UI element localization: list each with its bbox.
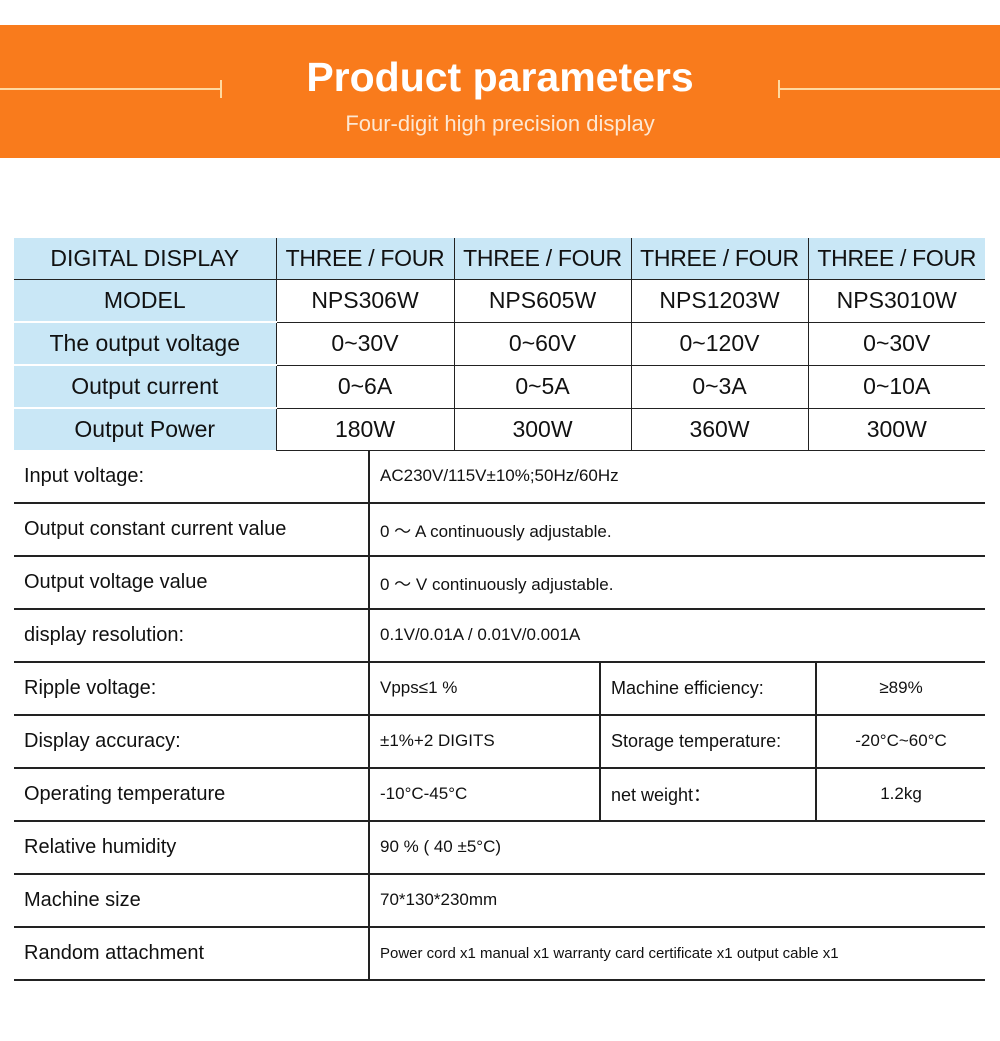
spec-value-output-voltage-value: 0 ～ V continuously adjustable. bbox=[369, 556, 985, 609]
cell-output-power-2: 300W bbox=[454, 408, 631, 450]
cell-model-4: NPS3010W bbox=[808, 280, 985, 323]
spec-key-machine-efficiency: Machine efficiency: bbox=[600, 662, 816, 715]
spec-key-display-resolution: display resolution: bbox=[14, 609, 369, 662]
row-label-digital-display: DIGITAL DISPLAY bbox=[14, 238, 276, 280]
table-row: Output current 0~6A 0~5A 0~3A 0~10A bbox=[14, 365, 985, 408]
spec-value-operating-temperature: -10°C-45°C bbox=[369, 768, 600, 821]
spec-value-machine-size: 70*130*230mm bbox=[369, 874, 985, 927]
table-row: Output voltage value 0 ～ V continuously … bbox=[14, 556, 985, 609]
row-label-output-power: Output Power bbox=[14, 408, 276, 450]
row-label-output-current: Output current bbox=[14, 365, 276, 408]
cell-model-2: NPS605W bbox=[454, 280, 631, 323]
cell-digital-display-2: THREE / FOUR bbox=[454, 238, 631, 280]
cell-model-3: NPS1203W bbox=[631, 280, 808, 323]
spec-key-ripple-voltage: Ripple voltage: bbox=[14, 662, 369, 715]
spec-key-output-constant-current: Output constant current value bbox=[14, 503, 369, 556]
spec-key-input-voltage: Input voltage: bbox=[14, 451, 369, 503]
spec-value-display-accuracy: ±1%+2 DIGITS bbox=[369, 715, 600, 768]
cell-digital-display-3: THREE / FOUR bbox=[631, 238, 808, 280]
spec-key-display-accuracy: Display accuracy: bbox=[14, 715, 369, 768]
cell-digital-display-4: THREE / FOUR bbox=[808, 238, 985, 280]
spec-key-output-voltage-value: Output voltage value bbox=[14, 556, 369, 609]
table-row: DIGITAL DISPLAY THREE / FOUR THREE / FOU… bbox=[14, 238, 985, 280]
table-row: Ripple voltage: Vpps≤1 % Machine efficie… bbox=[14, 662, 985, 715]
row-label-output-voltage: The output voltage bbox=[14, 322, 276, 365]
spec-key-machine-size: Machine size bbox=[14, 874, 369, 927]
row-label-model: MODEL bbox=[14, 280, 276, 323]
spec-value-display-resolution: 0.1V/0.01A / 0.01V/0.001A bbox=[369, 609, 985, 662]
cell-output-current-2: 0~5A bbox=[454, 365, 631, 408]
cell-output-current-3: 0~3A bbox=[631, 365, 808, 408]
table-row: Input voltage: AC230V/115V±10%;50Hz/60Hz bbox=[14, 451, 985, 503]
spec-value-output-constant-current: 0 ～ A continuously adjustable. bbox=[369, 503, 985, 556]
models-comparison-table: DIGITAL DISPLAY THREE / FOUR THREE / FOU… bbox=[14, 238, 985, 451]
spec-value-relative-humidity: 90 % ( 40 ±5°C) bbox=[369, 821, 985, 874]
cell-output-current-4: 0~10A bbox=[808, 365, 985, 408]
cell-output-voltage-1: 0~30V bbox=[276, 322, 454, 365]
cell-output-current-1: 0~6A bbox=[276, 365, 454, 408]
table-row: display resolution: 0.1V/0.01A / 0.01V/0… bbox=[14, 609, 985, 662]
cell-output-voltage-4: 0~30V bbox=[808, 322, 985, 365]
table-row: Relative humidity 90 % ( 40 ±5°C) bbox=[14, 821, 985, 874]
cell-digital-display-1: THREE / FOUR bbox=[276, 238, 454, 280]
spec-value-ripple-voltage: Vpps≤1 % bbox=[369, 662, 600, 715]
table-row: Machine size 70*130*230mm bbox=[14, 874, 985, 927]
cell-output-voltage-3: 0~120V bbox=[631, 322, 808, 365]
spec-value-random-attachment: Power cord x1 manual x1 warranty card ce… bbox=[369, 927, 985, 980]
table-row: The output voltage 0~30V 0~60V 0~120V 0~… bbox=[14, 322, 985, 365]
cell-model-1: NPS306W bbox=[276, 280, 454, 323]
table-row: MODEL NPS306W NPS605W NPS1203W NPS3010W bbox=[14, 280, 985, 323]
spec-key-random-attachment: Random attachment bbox=[14, 927, 369, 980]
spec-value-net-weight: 1.2kg bbox=[816, 768, 985, 821]
table-row: Operating temperature -10°C-45°C net wei… bbox=[14, 768, 985, 821]
cell-output-power-1: 180W bbox=[276, 408, 454, 450]
spec-value-storage-temperature: -20°C~60°C bbox=[816, 715, 985, 768]
spec-value-input-voltage: AC230V/115V±10%;50Hz/60Hz bbox=[369, 451, 985, 503]
table-row: Display accuracy: ±1%+2 DIGITS Storage t… bbox=[14, 715, 985, 768]
specification-table: DIGITAL DISPLAY THREE / FOUR THREE / FOU… bbox=[14, 238, 985, 981]
banner-inner: Product parameters Four-digit high preci… bbox=[0, 25, 1000, 158]
spec-key-storage-temperature: Storage temperature: bbox=[600, 715, 816, 768]
spec-key-operating-temperature: Operating temperature bbox=[14, 768, 369, 821]
page-title: Product parameters bbox=[0, 57, 1000, 98]
product-parameters-banner: Product parameters Four-digit high preci… bbox=[0, 25, 1000, 158]
table-row: Random attachment Power cord x1 manual x… bbox=[14, 927, 985, 980]
spec-value-machine-efficiency: ≥89% bbox=[816, 662, 985, 715]
page-subtitle: Four-digit high precision display bbox=[0, 113, 1000, 135]
table-row: Output constant current value 0 ～ A cont… bbox=[14, 503, 985, 556]
detailed-specs-table: Input voltage: AC230V/115V±10%;50Hz/60Hz… bbox=[14, 451, 985, 981]
cell-output-power-3: 360W bbox=[631, 408, 808, 450]
cell-output-voltage-2: 0~60V bbox=[454, 322, 631, 365]
cell-output-power-4: 300W bbox=[808, 408, 985, 450]
spec-key-net-weight: net weight： bbox=[600, 768, 816, 821]
table-row: Output Power 180W 300W 360W 300W bbox=[14, 408, 985, 450]
spec-key-relative-humidity: Relative humidity bbox=[14, 821, 369, 874]
